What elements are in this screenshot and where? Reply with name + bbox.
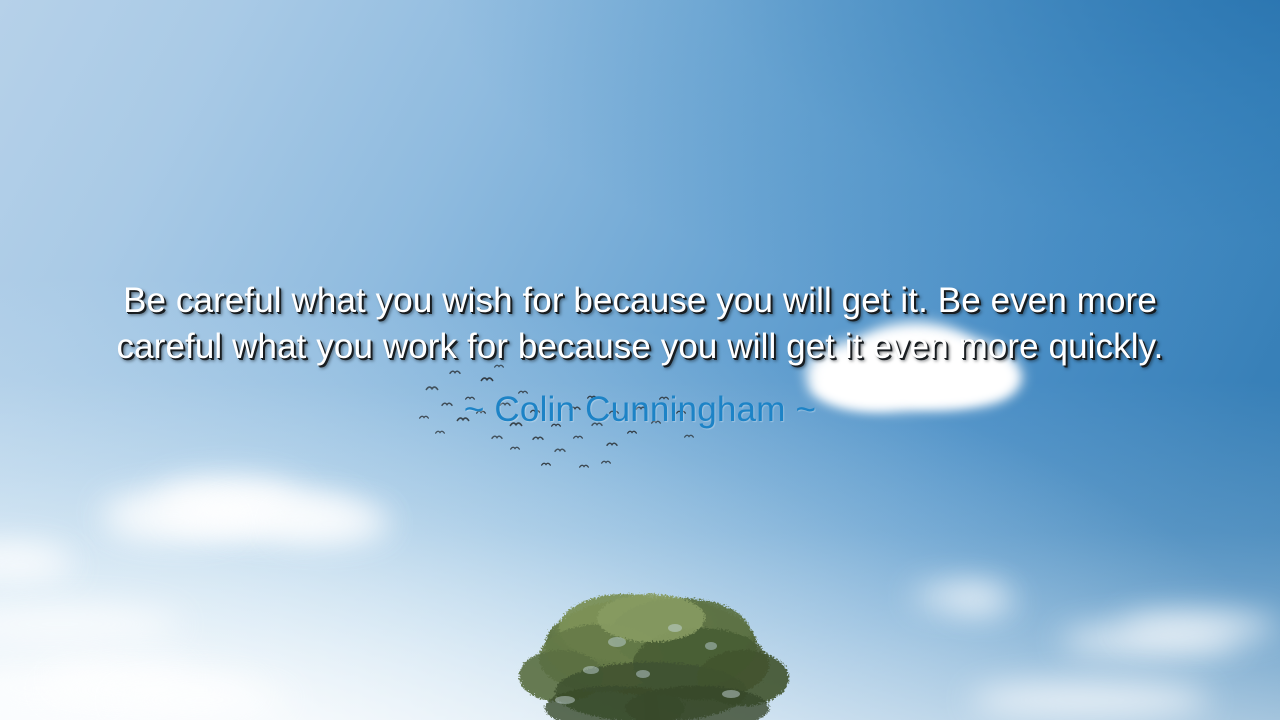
quote-block: Be careful what you wish for because you… (85, 278, 1195, 431)
quote-image-canvas: Be careful what you wish for because you… (0, 0, 1280, 720)
quote-text: Be careful what you wish for because you… (85, 278, 1195, 370)
oak-tree (505, 584, 795, 720)
quote-author: ~ Colin Cunningham ~ (85, 389, 1195, 431)
